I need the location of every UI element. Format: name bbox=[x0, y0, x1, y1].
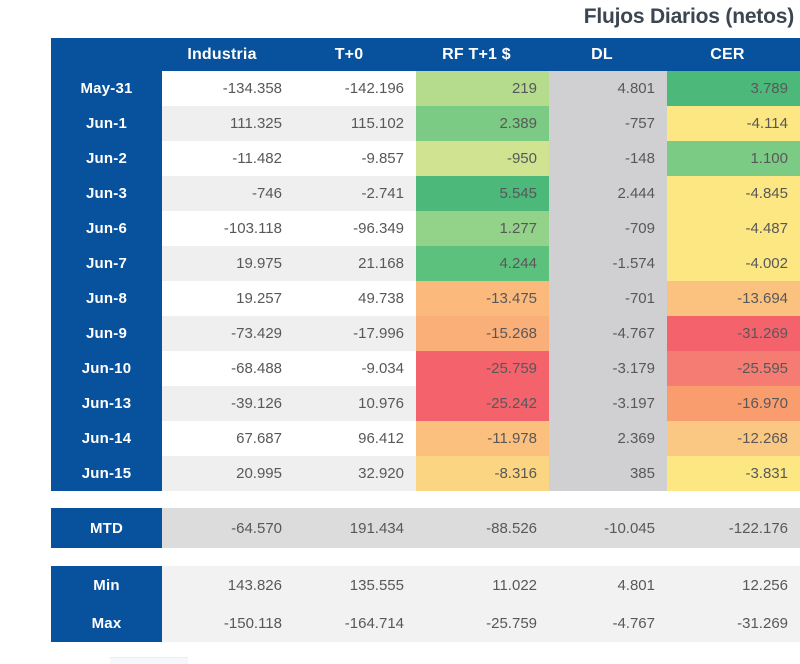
table-row: Jun-719.97521.1684.244-1.574-4.002 bbox=[51, 246, 800, 281]
cell-cer: -4.114 bbox=[667, 106, 800, 141]
cell-dl: 2.444 bbox=[549, 176, 667, 211]
cell-industria: -134.358 bbox=[162, 71, 294, 106]
row-label-date: Jun-1 bbox=[51, 106, 162, 141]
row-label-date: May-31 bbox=[51, 71, 162, 106]
mtd-cer: -122.176 bbox=[667, 508, 800, 548]
cell-industria: -746 bbox=[162, 176, 294, 211]
minmax-table: Min143.826135.55511.0224.80112.256Max-15… bbox=[51, 566, 800, 642]
mtd-industria: -64.570 bbox=[162, 508, 294, 548]
cell-t0: 32.920 bbox=[294, 456, 416, 491]
cell-dl: -4.767 bbox=[549, 316, 667, 351]
cell-t0: -9.034 bbox=[294, 351, 416, 386]
cell-dl: 2.369 bbox=[549, 421, 667, 456]
cell-rf-t1: 4.244 bbox=[416, 246, 549, 281]
header-cell-dl: DL bbox=[549, 38, 667, 71]
cell-t0: -2.741 bbox=[294, 176, 416, 211]
mtd-table: MTD -64.570 191.434 -88.526 -10.045 -122… bbox=[51, 508, 800, 548]
cell-rf-t1: -25.759 bbox=[416, 351, 549, 386]
header-cell-cer: CER bbox=[667, 38, 800, 71]
minmax-dl: -4.767 bbox=[549, 604, 667, 642]
cell-rf-t1: 219 bbox=[416, 71, 549, 106]
cell-dl: 4.801 bbox=[549, 71, 667, 106]
header-cell-t0: T+0 bbox=[294, 38, 416, 71]
cell-dl: -701 bbox=[549, 281, 667, 316]
cell-t0: 115.102 bbox=[294, 106, 416, 141]
cell-dl: -1.574 bbox=[549, 246, 667, 281]
minmax-t0: -164.714 bbox=[294, 604, 416, 642]
cell-industria: -11.482 bbox=[162, 141, 294, 176]
cell-rf-t1: -15.268 bbox=[416, 316, 549, 351]
cell-dl: 385 bbox=[549, 456, 667, 491]
cell-industria: 111.325 bbox=[162, 106, 294, 141]
table-row: Jun-9-73.429-17.996-15.268-4.767-31.269 bbox=[51, 316, 800, 351]
minmax-industria: -150.118 bbox=[162, 604, 294, 642]
minmax-dl: 4.801 bbox=[549, 566, 667, 604]
cell-industria: 20.995 bbox=[162, 456, 294, 491]
cell-cer: -4.002 bbox=[667, 246, 800, 281]
mtd-body: MTD -64.570 191.434 -88.526 -10.045 -122… bbox=[51, 508, 800, 548]
table-row: Jun-3-746-2.7415.5452.444-4.845 bbox=[51, 176, 800, 211]
cell-t0: -142.196 bbox=[294, 71, 416, 106]
cell-t0: 49.738 bbox=[294, 281, 416, 316]
cell-industria: 67.687 bbox=[162, 421, 294, 456]
cell-cer: -16.970 bbox=[667, 386, 800, 421]
row-label-date: Jun-14 bbox=[51, 421, 162, 456]
minmax-t0: 135.555 bbox=[294, 566, 416, 604]
cell-cer: -13.694 bbox=[667, 281, 800, 316]
cell-cer: -25.595 bbox=[667, 351, 800, 386]
table-row: Jun-10-68.488-9.034-25.759-3.179-25.595 bbox=[51, 351, 800, 386]
table-row: Jun-1467.68796.412-11.9782.369-12.268 bbox=[51, 421, 800, 456]
cell-dl: -148 bbox=[549, 141, 667, 176]
cell-cer: -4.487 bbox=[667, 211, 800, 246]
cell-industria: 19.975 bbox=[162, 246, 294, 281]
header-cell-rf-t1: RF T+1 $ bbox=[416, 38, 549, 71]
table-row: May-31-134.358-142.1962194.8013.789 bbox=[51, 71, 800, 106]
header-row: Industria T+0 RF T+1 $ DL CER bbox=[51, 38, 800, 71]
row-label-date: Jun-15 bbox=[51, 456, 162, 491]
table-row: Jun-2-11.482-9.857-950-1481.100 bbox=[51, 141, 800, 176]
row-label-date: Jun-10 bbox=[51, 351, 162, 386]
cell-cer: -12.268 bbox=[667, 421, 800, 456]
table-body: May-31-134.358-142.1962194.8013.789Jun-1… bbox=[51, 71, 800, 491]
cell-industria: -73.429 bbox=[162, 316, 294, 351]
cell-t0: -17.996 bbox=[294, 316, 416, 351]
header-cell-industria: Industria bbox=[162, 38, 294, 71]
minmax-label: Max bbox=[51, 604, 162, 642]
row-label-date: Jun-6 bbox=[51, 211, 162, 246]
minmax-body: Min143.826135.55511.0224.80112.256Max-15… bbox=[51, 566, 800, 642]
cell-cer: -4.845 bbox=[667, 176, 800, 211]
cell-rf-t1: -13.475 bbox=[416, 281, 549, 316]
cell-rf-t1: 2.389 bbox=[416, 106, 549, 141]
mtd-dl: -10.045 bbox=[549, 508, 667, 548]
cell-rf-t1: -25.242 bbox=[416, 386, 549, 421]
row-label-date: Jun-9 bbox=[51, 316, 162, 351]
table-row: Jun-6-103.118-96.3491.277-709-4.487 bbox=[51, 211, 800, 246]
header-cell-blank bbox=[51, 38, 162, 71]
cell-dl: -3.179 bbox=[549, 351, 667, 386]
mtd-t0: 191.434 bbox=[294, 508, 416, 548]
row-label-date: Jun-13 bbox=[51, 386, 162, 421]
table-row: Jun-1111.325115.1022.389-757-4.114 bbox=[51, 106, 800, 141]
daily-flows-table: Industria T+0 RF T+1 $ DL CER May-31-134… bbox=[51, 38, 800, 491]
cell-dl: -757 bbox=[549, 106, 667, 141]
table-row: Min143.826135.55511.0224.80112.256 bbox=[51, 566, 800, 604]
row-label-date: Jun-3 bbox=[51, 176, 162, 211]
mtd-rf: -88.526 bbox=[416, 508, 549, 548]
mtd-label: MTD bbox=[51, 508, 162, 548]
table-row: Jun-13-39.12610.976-25.242-3.197-16.970 bbox=[51, 386, 800, 421]
cell-dl: -3.197 bbox=[549, 386, 667, 421]
cell-rf-t1: 5.545 bbox=[416, 176, 549, 211]
minmax-cer: 12.256 bbox=[667, 566, 800, 604]
table-row: MTD -64.570 191.434 -88.526 -10.045 -122… bbox=[51, 508, 800, 548]
minmax-label: Min bbox=[51, 566, 162, 604]
cell-dl: -709 bbox=[549, 211, 667, 246]
cell-rf-t1: -8.316 bbox=[416, 456, 549, 491]
row-label-date: Jun-8 bbox=[51, 281, 162, 316]
table-row: Max-150.118-164.714-25.759-4.767-31.269 bbox=[51, 604, 800, 642]
cell-industria: 19.257 bbox=[162, 281, 294, 316]
minmax-rf: 11.022 bbox=[416, 566, 549, 604]
cell-t0: 10.976 bbox=[294, 386, 416, 421]
page-title: Flujos Diarios (netos) bbox=[584, 5, 794, 29]
table-row: Jun-819.25749.738-13.475-701-13.694 bbox=[51, 281, 800, 316]
title-bar: Flujos Diarios (netos) bbox=[0, 0, 800, 33]
cell-t0: 96.412 bbox=[294, 421, 416, 456]
table-header: Industria T+0 RF T+1 $ DL CER bbox=[51, 38, 800, 71]
cell-t0: 21.168 bbox=[294, 246, 416, 281]
cell-cer: 3.789 bbox=[667, 71, 800, 106]
cell-cer: -3.831 bbox=[667, 456, 800, 491]
cell-industria: -39.126 bbox=[162, 386, 294, 421]
cell-industria: -68.488 bbox=[162, 351, 294, 386]
row-label-date: Jun-2 bbox=[51, 141, 162, 176]
cell-t0: -96.349 bbox=[294, 211, 416, 246]
minmax-cer: -31.269 bbox=[667, 604, 800, 642]
cell-rf-t1: -950 bbox=[416, 141, 549, 176]
cell-t0: -9.857 bbox=[294, 141, 416, 176]
cell-cer: -31.269 bbox=[667, 316, 800, 351]
cell-rf-t1: -11.978 bbox=[416, 421, 549, 456]
table-row: Jun-1520.99532.920-8.316385-3.831 bbox=[51, 456, 800, 491]
cell-industria: -103.118 bbox=[162, 211, 294, 246]
minmax-industria: 143.826 bbox=[162, 566, 294, 604]
cell-rf-t1: 1.277 bbox=[416, 211, 549, 246]
cell-cer: 1.100 bbox=[667, 141, 800, 176]
minmax-rf: -25.759 bbox=[416, 604, 549, 642]
row-label-date: Jun-7 bbox=[51, 246, 162, 281]
